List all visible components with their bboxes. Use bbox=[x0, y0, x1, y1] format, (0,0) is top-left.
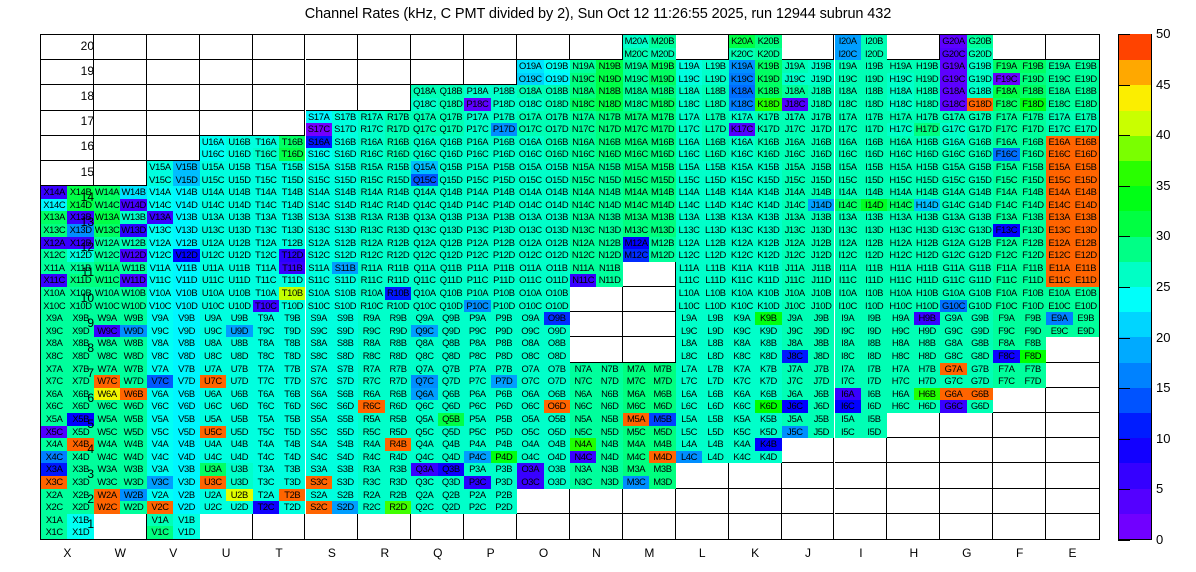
channel-O14C: O14C bbox=[517, 199, 543, 212]
channel-G6A: G6A bbox=[940, 388, 966, 401]
channel-R10C: R10C bbox=[358, 300, 384, 313]
channel-V15C: V15C bbox=[147, 174, 173, 187]
channel-N13B: N13B bbox=[596, 211, 622, 224]
channel-L4B: L4B bbox=[702, 438, 728, 451]
colorbar-segment bbox=[1119, 311, 1151, 337]
channel-U8C: U8C bbox=[200, 350, 226, 363]
channel-T16A: T16A bbox=[253, 136, 279, 149]
channel-P17C: P17C bbox=[464, 123, 490, 136]
channel-F9A: F9A bbox=[993, 312, 1019, 325]
channel-P4D: P4D bbox=[491, 451, 517, 464]
channel-N6B: N6B bbox=[596, 388, 622, 401]
channel-I9D: I9D bbox=[861, 325, 887, 338]
channel-E19A: E19A bbox=[1046, 60, 1072, 73]
channel-I15B: I15B bbox=[861, 161, 887, 174]
channel-Q6B: Q6B bbox=[438, 388, 464, 401]
channel-T15A: T15A bbox=[253, 161, 279, 174]
paddle-cell bbox=[1046, 337, 1099, 362]
channel-N4B: N4B bbox=[596, 438, 622, 451]
x-axis-label-K: K bbox=[729, 546, 782, 560]
channel-M12A: M12A bbox=[623, 237, 649, 250]
channel-R10A: R10A bbox=[358, 287, 384, 300]
channel-U13B: U13B bbox=[226, 211, 252, 224]
channel-L9C: L9C bbox=[676, 325, 702, 338]
paddle-cell bbox=[623, 514, 676, 539]
channel-T11D: T11D bbox=[279, 274, 305, 287]
channel-K15A: K15A bbox=[729, 161, 755, 174]
channel-O17B: O17B bbox=[544, 111, 570, 124]
channel-R2B: R2B bbox=[385, 489, 411, 502]
channel-K7A: K7A bbox=[729, 363, 755, 376]
channel-P14B: P14B bbox=[491, 186, 517, 199]
channel-T9D: T9D bbox=[279, 325, 305, 338]
paddle-cell bbox=[835, 489, 888, 514]
channel-Q7D: Q7D bbox=[438, 375, 464, 388]
channel-M18C: M18C bbox=[623, 98, 649, 111]
colorbar-segment bbox=[1119, 387, 1151, 413]
channel-W9B: W9B bbox=[120, 312, 146, 325]
colorbar-tick-label-40: 40 bbox=[1156, 127, 1170, 142]
paddle-cell bbox=[1046, 514, 1099, 539]
channel-R7D: R7D bbox=[385, 375, 411, 388]
channel-M18B: M18B bbox=[649, 85, 675, 98]
channel-G19C: G19C bbox=[940, 73, 966, 86]
channel-U11B: U11B bbox=[226, 262, 252, 275]
channel-G14C: G14C bbox=[940, 199, 966, 212]
channel-M12C: M12C bbox=[623, 249, 649, 262]
channel-H15A: H15A bbox=[887, 161, 913, 174]
channel-U7C: U7C bbox=[200, 375, 226, 388]
channel-P5B: P5B bbox=[491, 413, 517, 426]
channel-M19C: M19C bbox=[623, 73, 649, 86]
channel-Q13C: Q13C bbox=[411, 224, 437, 237]
channel-W4B: W4B bbox=[120, 438, 146, 451]
channel-F14B: F14B bbox=[1020, 186, 1046, 199]
heatmap-grid: M20AM20BM20CM20DK20AK20BK20CK20DI20AI20B… bbox=[41, 35, 1099, 539]
channel-P7A: P7A bbox=[464, 363, 490, 376]
channel-K12C: K12C bbox=[729, 249, 755, 262]
channel-J5B: J5B bbox=[808, 413, 834, 426]
channel-V9A: V9A bbox=[147, 312, 173, 325]
channel-W14C: W14C bbox=[94, 199, 120, 212]
channel-Q14C: Q14C bbox=[411, 199, 437, 212]
channel-V5B: V5B bbox=[173, 413, 199, 426]
channel-G8C: G8C bbox=[940, 350, 966, 363]
paddle-cell bbox=[464, 514, 517, 539]
channel-S17B: S17B bbox=[332, 111, 358, 124]
channel-K20A: K20A bbox=[729, 35, 755, 48]
paddle-cell bbox=[306, 85, 359, 110]
channel-N5D: N5D bbox=[596, 426, 622, 439]
channel-R13C: R13C bbox=[358, 224, 384, 237]
channel-P12C: P12C bbox=[464, 249, 490, 262]
channel-N16D: N16D bbox=[596, 148, 622, 161]
channel-U10D: U10D bbox=[226, 300, 252, 313]
channel-I17C: I17C bbox=[835, 123, 861, 136]
colorbar-tick bbox=[1118, 338, 1130, 339]
channel-T5C: T5C bbox=[253, 426, 279, 439]
channel-K14B: K14B bbox=[755, 186, 781, 199]
channel-V2B: V2B bbox=[173, 489, 199, 502]
channel-Q2D: Q2D bbox=[438, 501, 464, 514]
channel-U14D: U14D bbox=[226, 199, 252, 212]
channel-P12B: P12B bbox=[491, 237, 517, 250]
channel-U2B: U2B bbox=[226, 489, 252, 502]
channel-K4D: K4D bbox=[755, 451, 781, 464]
channel-P8B: P8B bbox=[491, 337, 517, 350]
channel-H16C: H16C bbox=[887, 148, 913, 161]
y-axis-label-13: 13 bbox=[64, 215, 94, 229]
channel-T14A: T14A bbox=[253, 186, 279, 199]
channel-H10A: H10A bbox=[887, 287, 913, 300]
channel-G17B: G17B bbox=[967, 111, 993, 124]
channel-W10B: W10B bbox=[120, 287, 146, 300]
x-axis-label-H: H bbox=[887, 546, 940, 560]
channel-S5B: S5B bbox=[332, 413, 358, 426]
x-axis-label-O: O bbox=[517, 546, 570, 560]
channel-U2C: U2C bbox=[200, 501, 226, 514]
channel-I8A: I8A bbox=[835, 337, 861, 350]
channel-L8A: L8A bbox=[676, 337, 702, 350]
colorbar-tick-label-20: 20 bbox=[1156, 330, 1170, 345]
channel-F14A: F14A bbox=[993, 186, 1019, 199]
channel-Q8A: Q8A bbox=[411, 337, 437, 350]
channel-T2D: T2D bbox=[279, 501, 305, 514]
channel-K16B: K16B bbox=[755, 136, 781, 149]
channel-J6C: J6C bbox=[782, 400, 808, 413]
channel-Q5D: Q5D bbox=[438, 426, 464, 439]
channel-T4A: T4A bbox=[253, 438, 279, 451]
channel-L11D: L11D bbox=[702, 274, 728, 287]
channel-K8A: K8A bbox=[729, 337, 755, 350]
channel-I18D: I18D bbox=[861, 98, 887, 111]
channel-L4C: L4C bbox=[676, 451, 702, 464]
channel-O10B: O10B bbox=[544, 287, 570, 300]
channel-G17D: G17D bbox=[967, 123, 993, 136]
channel-Q6D: Q6D bbox=[438, 400, 464, 413]
channel-J16A: J16A bbox=[782, 136, 808, 149]
channel-P4A: P4A bbox=[464, 438, 490, 451]
channel-L8D: L8D bbox=[702, 350, 728, 363]
y-axis-label-17: 17 bbox=[64, 114, 94, 128]
channel-J8D: J8D bbox=[808, 350, 834, 363]
channel-I15C: I15C bbox=[835, 174, 861, 187]
channel-W14A: W14A bbox=[94, 186, 120, 199]
paddle-cell bbox=[358, 514, 411, 539]
channel-G14D: G14D bbox=[967, 199, 993, 212]
channel-L7C: L7C bbox=[676, 375, 702, 388]
channel-Q15C: Q15C bbox=[411, 174, 437, 187]
channel-K17B: K17B bbox=[755, 111, 781, 124]
channel-N17B: N17B bbox=[596, 111, 622, 124]
colorbar-tick bbox=[1118, 287, 1130, 288]
channel-U9A: U9A bbox=[200, 312, 226, 325]
channel-V13B: V13B bbox=[173, 211, 199, 224]
channel-U7A: U7A bbox=[200, 363, 226, 376]
x-axis-label-W: W bbox=[94, 546, 147, 560]
channel-L14A: L14A bbox=[676, 186, 702, 199]
channel-P4C: P4C bbox=[464, 451, 490, 464]
channel-G17A: G17A bbox=[940, 111, 966, 124]
channel-G10C: G10C bbox=[940, 300, 966, 313]
channel-H11B: H11B bbox=[914, 262, 940, 275]
channel-L19B: L19B bbox=[702, 60, 728, 73]
channel-I10D: I10D bbox=[861, 300, 887, 313]
channel-M16A: M16A bbox=[623, 136, 649, 149]
colorbar-segment bbox=[1119, 59, 1151, 85]
channel-V15D: V15D bbox=[173, 174, 199, 187]
channel-G20B: G20B bbox=[967, 35, 993, 48]
channel-S12C: S12C bbox=[306, 249, 332, 262]
channel-I6A: I6A bbox=[835, 388, 861, 401]
channel-V10B: V10B bbox=[173, 287, 199, 300]
channel-T2B: T2B bbox=[279, 489, 305, 502]
channel-T10B: T10B bbox=[279, 287, 305, 300]
y-axis-label-10: 10 bbox=[64, 291, 94, 305]
channel-S15C: S15C bbox=[306, 174, 332, 187]
channel-M5A: M5A bbox=[623, 413, 649, 426]
channel-L8C: L8C bbox=[676, 350, 702, 363]
channel-G7B: G7B bbox=[967, 363, 993, 376]
channel-G17C: G17C bbox=[940, 123, 966, 136]
channel-E12D: E12D bbox=[1073, 249, 1099, 262]
channel-I7D: I7D bbox=[861, 375, 887, 388]
channel-Q14A: Q14A bbox=[411, 186, 437, 199]
channel-O4A: O4A bbox=[517, 438, 543, 451]
channel-O4B: O4B bbox=[544, 438, 570, 451]
channel-F7B: F7B bbox=[1020, 363, 1046, 376]
channel-N19B: N19B bbox=[596, 60, 622, 73]
paddle-cell bbox=[200, 60, 253, 85]
channel-V8D: V8D bbox=[173, 350, 199, 363]
channel-Q7B: Q7B bbox=[438, 363, 464, 376]
channel-N19D: N19D bbox=[596, 73, 622, 86]
channel-S14A: S14A bbox=[306, 186, 332, 199]
channel-P6D: P6D bbox=[491, 400, 517, 413]
colorbar-segment bbox=[1119, 235, 1151, 261]
channel-E19B: E19B bbox=[1073, 60, 1099, 73]
channel-L19A: L19A bbox=[676, 60, 702, 73]
paddle-cell bbox=[729, 489, 782, 514]
channel-F16A: F16A bbox=[993, 136, 1019, 149]
channel-E13B: E13B bbox=[1073, 211, 1099, 224]
channel-M19A: M19A bbox=[623, 60, 649, 73]
channel-P8D: P8D bbox=[491, 350, 517, 363]
channel-Q3A: Q3A bbox=[411, 463, 437, 476]
channel-V4C: V4C bbox=[147, 451, 173, 464]
channel-K19B: K19B bbox=[755, 60, 781, 73]
channel-V1A: V1A bbox=[147, 514, 173, 527]
channel-N4D: N4D bbox=[596, 451, 622, 464]
channel-P10A: P10A bbox=[464, 287, 490, 300]
channel-S10C: S10C bbox=[306, 300, 332, 313]
paddle-cell bbox=[623, 312, 676, 337]
channel-L17C: L17C bbox=[676, 123, 702, 136]
paddle-cell bbox=[147, 35, 200, 60]
channel-L10A: L10A bbox=[676, 287, 702, 300]
channel-S11A: S11A bbox=[306, 262, 332, 275]
channel-O3D: O3D bbox=[544, 476, 570, 489]
channel-M7A: M7A bbox=[623, 363, 649, 376]
channel-F17D: F17D bbox=[1020, 123, 1046, 136]
colorbar-tick bbox=[1118, 388, 1130, 389]
channel-L17A: L17A bbox=[676, 111, 702, 124]
channel-G12B: G12B bbox=[967, 237, 993, 250]
channel-O18B: O18B bbox=[544, 85, 570, 98]
channel-M4C: M4C bbox=[623, 451, 649, 464]
channel-I18B: I18B bbox=[861, 85, 887, 98]
channel-H10D: H10D bbox=[914, 300, 940, 313]
channel-T15D: T15D bbox=[279, 174, 305, 187]
channel-I13B: I13B bbox=[861, 211, 887, 224]
channel-W6A: W6A bbox=[94, 388, 120, 401]
channel-M5C: M5C bbox=[623, 426, 649, 439]
channel-F19C: F19C bbox=[993, 73, 1019, 86]
channel-Q10D: Q10D bbox=[438, 300, 464, 313]
channel-L10B: L10B bbox=[702, 287, 728, 300]
channel-O12A: O12A bbox=[517, 237, 543, 250]
channel-I5D: I5D bbox=[861, 426, 887, 439]
channel-J18C: J18C bbox=[782, 98, 808, 111]
channel-U10B: U10B bbox=[226, 287, 252, 300]
channel-T12C: T12C bbox=[253, 249, 279, 262]
channel-G8B: G8B bbox=[967, 337, 993, 350]
channel-P12A: P12A bbox=[464, 237, 490, 250]
channel-W4A: W4A bbox=[94, 438, 120, 451]
colorbar-tick-label-10: 10 bbox=[1156, 431, 1170, 446]
paddle-cell bbox=[887, 35, 940, 60]
channel-R2A: R2A bbox=[358, 489, 384, 502]
channel-W12C: W12C bbox=[94, 249, 120, 262]
channel-H12D: H12D bbox=[914, 249, 940, 262]
colorbar-tick-label-50: 50 bbox=[1156, 26, 1170, 41]
colorbar-segment bbox=[1119, 462, 1151, 488]
paddle-cell bbox=[940, 413, 993, 438]
channel-E10D: E10D bbox=[1073, 300, 1099, 313]
channel-O7B: O7B bbox=[544, 363, 570, 376]
channel-K8D: K8D bbox=[755, 350, 781, 363]
channel-P7B: P7B bbox=[491, 363, 517, 376]
channel-J14A: J14A bbox=[782, 186, 808, 199]
colorbar-segment bbox=[1119, 487, 1151, 513]
channel-F11A: F11A bbox=[993, 262, 1019, 275]
paddle-cell bbox=[782, 514, 835, 539]
paddle-cell bbox=[782, 438, 835, 463]
channel-W2A: W2A bbox=[94, 489, 120, 502]
channel-E10A: E10A bbox=[1046, 287, 1072, 300]
channel-P10B: P10B bbox=[491, 287, 517, 300]
channel-W14B: W14B bbox=[120, 186, 146, 199]
channel-N5B: N5B bbox=[596, 413, 622, 426]
channel-O9C: O9C bbox=[517, 325, 543, 338]
channel-O6D: O6D bbox=[544, 400, 570, 413]
channel-M17B: M17B bbox=[649, 111, 675, 124]
channel-E11B: E11B bbox=[1073, 262, 1099, 275]
channel-N15B: N15B bbox=[596, 161, 622, 174]
channel-R16C: R16C bbox=[358, 148, 384, 161]
channel-E17C: E17C bbox=[1046, 123, 1072, 136]
channel-P13A: P13A bbox=[464, 211, 490, 224]
colorbar-segment bbox=[1119, 336, 1151, 362]
channel-O4D: O4D bbox=[544, 451, 570, 464]
channel-H17C: H17C bbox=[887, 123, 913, 136]
channel-L6A: L6A bbox=[676, 388, 702, 401]
channel-W9C: W9C bbox=[94, 325, 120, 338]
channel-R17A: R17A bbox=[358, 111, 384, 124]
channel-H14D: H14D bbox=[914, 199, 940, 212]
channel-V15A: V15A bbox=[147, 161, 173, 174]
channel-H13D: H13D bbox=[914, 224, 940, 237]
channel-G9D: G9D bbox=[967, 325, 993, 338]
channel-H12B: H12B bbox=[914, 237, 940, 250]
channel-O6B: O6B bbox=[544, 388, 570, 401]
channel-E18B: E18B bbox=[1073, 85, 1099, 98]
channel-M5B: M5B bbox=[649, 413, 675, 426]
channel-K11D: K11D bbox=[755, 274, 781, 287]
channel-J11D: J11D bbox=[808, 274, 834, 287]
channel-P17B: P17B bbox=[491, 111, 517, 124]
channel-N15D: N15D bbox=[596, 174, 622, 187]
channel-H13C: H13C bbox=[887, 224, 913, 237]
channel-M16C: M16C bbox=[623, 148, 649, 161]
channel-F8D: F8D bbox=[1020, 350, 1046, 363]
channel-K10A: K10A bbox=[729, 287, 755, 300]
channel-Q12C: Q12C bbox=[411, 249, 437, 262]
channel-E12B: E12B bbox=[1073, 237, 1099, 250]
channel-S6B: S6B bbox=[332, 388, 358, 401]
channel-R17D: R17D bbox=[385, 123, 411, 136]
channel-S11B: S11B bbox=[332, 262, 358, 275]
channel-F16C: F16C bbox=[993, 148, 1019, 161]
x-axis-label-V: V bbox=[147, 546, 200, 560]
channel-L14C: L14C bbox=[676, 199, 702, 212]
channel-L17B: L17B bbox=[702, 111, 728, 124]
paddle-cell bbox=[782, 489, 835, 514]
channel-S4D: S4D bbox=[332, 451, 358, 464]
channel-U10A: U10A bbox=[200, 287, 226, 300]
channel-T13C: T13C bbox=[253, 224, 279, 237]
channel-Q17C: Q17C bbox=[411, 123, 437, 136]
channel-T7D: T7D bbox=[279, 375, 305, 388]
channel-E13D: E13D bbox=[1073, 224, 1099, 237]
channel-N16C: N16C bbox=[570, 148, 596, 161]
channel-Q13D: Q13D bbox=[438, 224, 464, 237]
channel-K9A: K9A bbox=[729, 312, 755, 325]
channel-T12D: T12D bbox=[279, 249, 305, 262]
channel-G9B: G9B bbox=[967, 312, 993, 325]
channel-S4A: S4A bbox=[306, 438, 332, 451]
channel-Q3C: Q3C bbox=[411, 476, 437, 489]
channel-S17A: S17A bbox=[306, 111, 332, 124]
channel-N6A: N6A bbox=[570, 388, 596, 401]
channel-L10D: L10D bbox=[702, 300, 728, 313]
channel-J9C: J9C bbox=[782, 325, 808, 338]
channel-R9C: R9C bbox=[358, 325, 384, 338]
channel-J10A: J10A bbox=[782, 287, 808, 300]
channel-H18D: H18D bbox=[914, 98, 940, 111]
channel-F7A: F7A bbox=[993, 363, 1019, 376]
x-axis-label-N: N bbox=[570, 546, 623, 560]
channel-J13A: J13A bbox=[782, 211, 808, 224]
channel-T13D: T13D bbox=[279, 224, 305, 237]
channel-Q7A: Q7A bbox=[411, 363, 437, 376]
channel-S7A: S7A bbox=[306, 363, 332, 376]
channel-F18B: F18B bbox=[1020, 85, 1046, 98]
channel-S8B: S8B bbox=[332, 337, 358, 350]
channel-E11A: E11A bbox=[1046, 262, 1072, 275]
channel-W5D: W5D bbox=[120, 426, 146, 439]
paddle-cell bbox=[200, 35, 253, 60]
